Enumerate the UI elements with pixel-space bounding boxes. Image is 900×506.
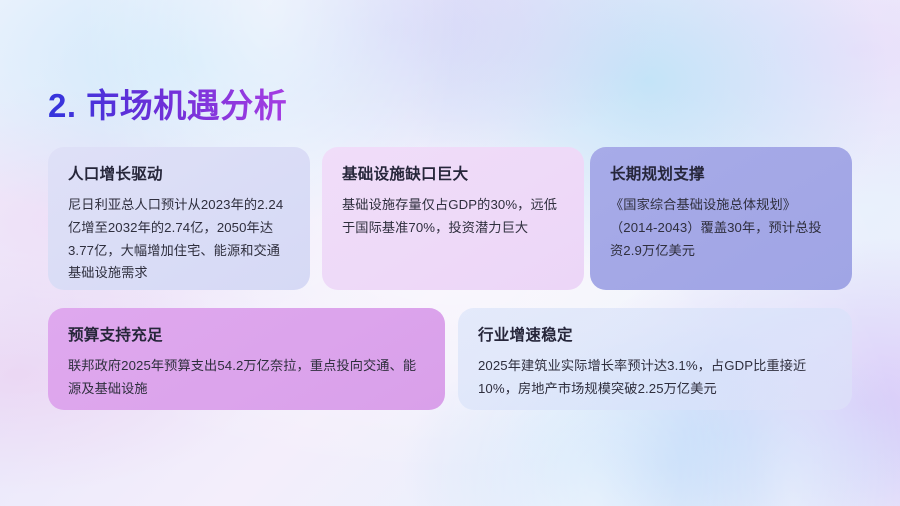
card-body: 尼日利亚总人口预计从2023年的2.24亿增至2032年的2.74亿，2050年… (68, 194, 290, 285)
card-infrastructure-gap[interactable]: 基础设施缺口巨大 基础设施存量仅占GDP的30%，远低于国际基准70%，投资潜力… (322, 147, 584, 290)
card-industry-growth[interactable]: 行业增速稳定 2025年建筑业实际增长率预计达3.1%，占GDP比重接近10%，… (458, 308, 852, 410)
card-long-term-plan[interactable]: 长期规划支撑 《国家综合基础设施总体规划》（2014-2043）覆盖30年，预计… (590, 147, 852, 290)
card-body: 《国家综合基础设施总体规划》（2014-2043）覆盖30年，预计总投资2.9万… (610, 194, 832, 262)
card-title: 基础设施缺口巨大 (342, 165, 564, 185)
card-title: 人口增长驱动 (68, 165, 290, 185)
card-title: 预算支持充足 (68, 326, 425, 346)
card-body: 2025年建筑业实际增长率预计达3.1%，占GDP比重接近10%，房地产市场规模… (478, 355, 832, 400)
card-population-growth[interactable]: 人口增长驱动 尼日利亚总人口预计从2023年的2.24亿增至2032年的2.74… (48, 147, 310, 290)
page-title: 2. 市场机遇分析 (48, 86, 287, 126)
card-body: 基础设施存量仅占GDP的30%，远低于国际基准70%，投资潜力巨大 (342, 194, 564, 239)
card-budget-support[interactable]: 预算支持充足 联邦政府2025年预算支出54.2万亿奈拉，重点投向交通、能源及基… (48, 308, 445, 410)
card-title: 行业增速稳定 (478, 326, 832, 346)
card-body: 联邦政府2025年预算支出54.2万亿奈拉，重点投向交通、能源及基础设施 (68, 355, 425, 400)
card-title: 长期规划支撑 (610, 165, 832, 185)
slide-canvas: 2. 市场机遇分析 人口增长驱动 尼日利亚总人口预计从2023年的2.24亿增至… (0, 0, 900, 506)
